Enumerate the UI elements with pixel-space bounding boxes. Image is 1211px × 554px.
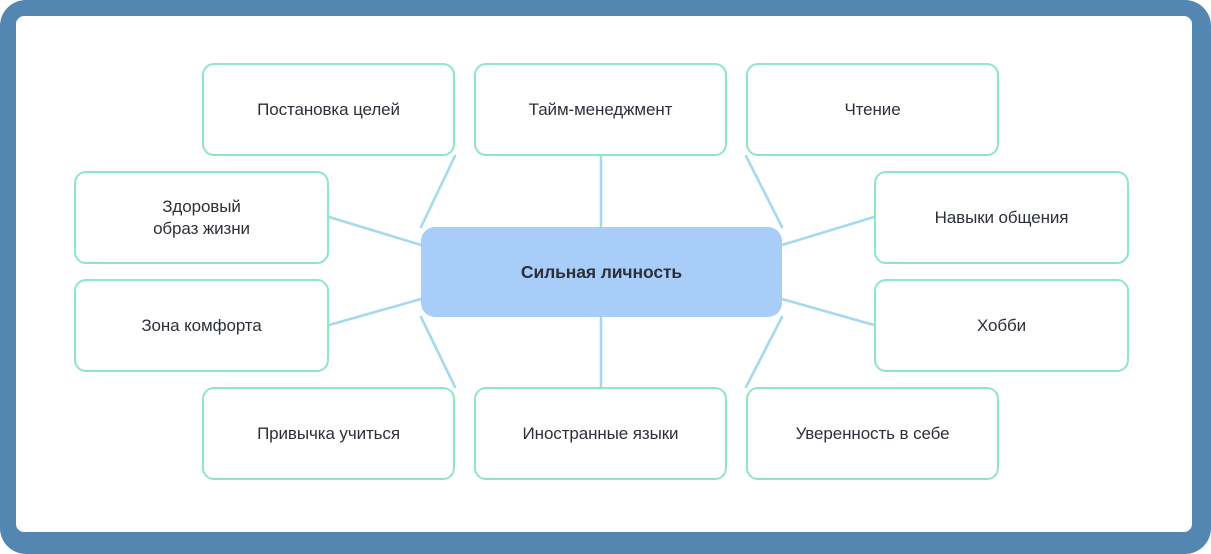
node-hobby-label: Хобби bbox=[967, 315, 1036, 337]
connector-line-goal-setting bbox=[421, 156, 455, 227]
node-healthy-lifestyle[interactable]: Здоровый образ жизни bbox=[74, 171, 329, 264]
connector-line-hobby bbox=[782, 299, 874, 325]
node-goal-setting-label: Постановка целей bbox=[247, 99, 410, 121]
connector-line-comfort-zone bbox=[329, 299, 421, 325]
node-reading-label: Чтение bbox=[834, 99, 910, 121]
node-reading[interactable]: Чтение bbox=[746, 63, 999, 156]
node-learning-habit[interactable]: Привычка учиться bbox=[202, 387, 455, 480]
node-comfort-zone[interactable]: Зона комфорта bbox=[74, 279, 329, 372]
node-time-management[interactable]: Тайм-менеджмент bbox=[474, 63, 727, 156]
connector-line-healthy-lifestyle bbox=[329, 217, 421, 245]
node-foreign-languages-label: Иностранные языки bbox=[513, 423, 689, 445]
node-communication[interactable]: Навыки общения bbox=[874, 171, 1129, 264]
node-foreign-languages[interactable]: Иностранные языки bbox=[474, 387, 727, 480]
connector-line-communication bbox=[782, 217, 874, 245]
node-time-management-label: Тайм-менеджмент bbox=[519, 99, 683, 121]
node-self-confidence[interactable]: Уверенность в себе bbox=[746, 387, 999, 480]
mindmap-canvas: Сильная личностьПостановка целейТайм-мен… bbox=[16, 16, 1192, 532]
node-hobby[interactable]: Хобби bbox=[874, 279, 1129, 372]
node-comfort-zone-label: Зона комфорта bbox=[131, 315, 271, 337]
node-goal-setting[interactable]: Постановка целей bbox=[202, 63, 455, 156]
connector-line-learning-habit bbox=[421, 317, 455, 387]
center-node[interactable]: Сильная личность bbox=[421, 227, 782, 317]
mindmap-frame: Сильная личностьПостановка целейТайм-мен… bbox=[0, 0, 1211, 554]
node-self-confidence-label: Уверенность в себе bbox=[786, 423, 960, 445]
connector-line-reading bbox=[746, 156, 782, 227]
node-learning-habit-label: Привычка учиться bbox=[247, 423, 410, 445]
node-communication-label: Навыки общения bbox=[925, 207, 1079, 229]
node-healthy-lifestyle-label: Здоровый образ жизни bbox=[143, 196, 260, 240]
connector-line-self-confidence bbox=[746, 317, 782, 387]
center-node-label: Сильная личность bbox=[511, 262, 692, 283]
